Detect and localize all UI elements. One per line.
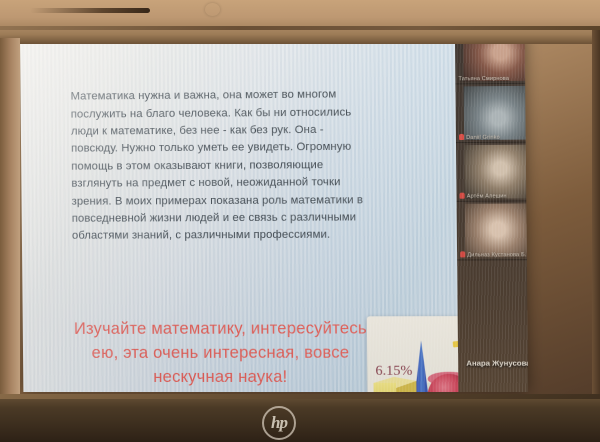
- participant-video: [464, 86, 529, 140]
- yellow-cube: [373, 377, 416, 392]
- participant-name: Артём Алешин: [460, 192, 529, 200]
- participant-video: [465, 203, 528, 257]
- participant-video: [464, 145, 528, 199]
- mic-muted-icon: [459, 134, 464, 140]
- laptop-hinge: [0, 394, 600, 399]
- participant-name: Дильназ Кустанова Б...: [460, 251, 528, 258]
- bezel-seam: [0, 26, 600, 30]
- slide-call-to-action: Изучайте математику, интересуйтесь ею, э…: [69, 317, 373, 390]
- percent-label: 6.15%: [375, 364, 412, 379]
- laptop-left-bezel: [0, 38, 20, 442]
- webcam-icon: [205, 3, 220, 16]
- participant-tile[interactable]: Daniil Grinko: [455, 84, 528, 143]
- laptop-photo: Математика нужна и важна, она может во м…: [0, 0, 600, 442]
- laptop-right-bezel: [592, 30, 600, 442]
- desk-edge: [30, 8, 150, 13]
- presentation-slide: Математика нужна и важна, она может во м…: [20, 34, 458, 392]
- laptop-top-bezel: [0, 0, 600, 44]
- participant-tile[interactable]: Артём Алешин: [456, 143, 528, 202]
- laptop-palmrest: hp: [0, 394, 600, 442]
- active-speaker-label: Анара Жунусова: [458, 353, 528, 373]
- mic-muted-icon: [460, 251, 465, 257]
- slide-body-text: Математика нужна и важна, она может во м…: [71, 86, 366, 245]
- participant-tile[interactable]: Дильназ Кустанова Б...: [457, 201, 529, 260]
- mic-muted-icon: [460, 193, 465, 199]
- participant-name: Daniil Grinko: [459, 133, 528, 141]
- participant-name: Татьяна Смирнова: [458, 76, 528, 83]
- hp-logo: hp: [262, 406, 296, 440]
- laptop-screen: Математика нужна и важна, она может во м…: [20, 33, 528, 392]
- participants-sidebar[interactable]: Татьяна Смирнова Daniil Grinko Артём Але…: [455, 33, 528, 392]
